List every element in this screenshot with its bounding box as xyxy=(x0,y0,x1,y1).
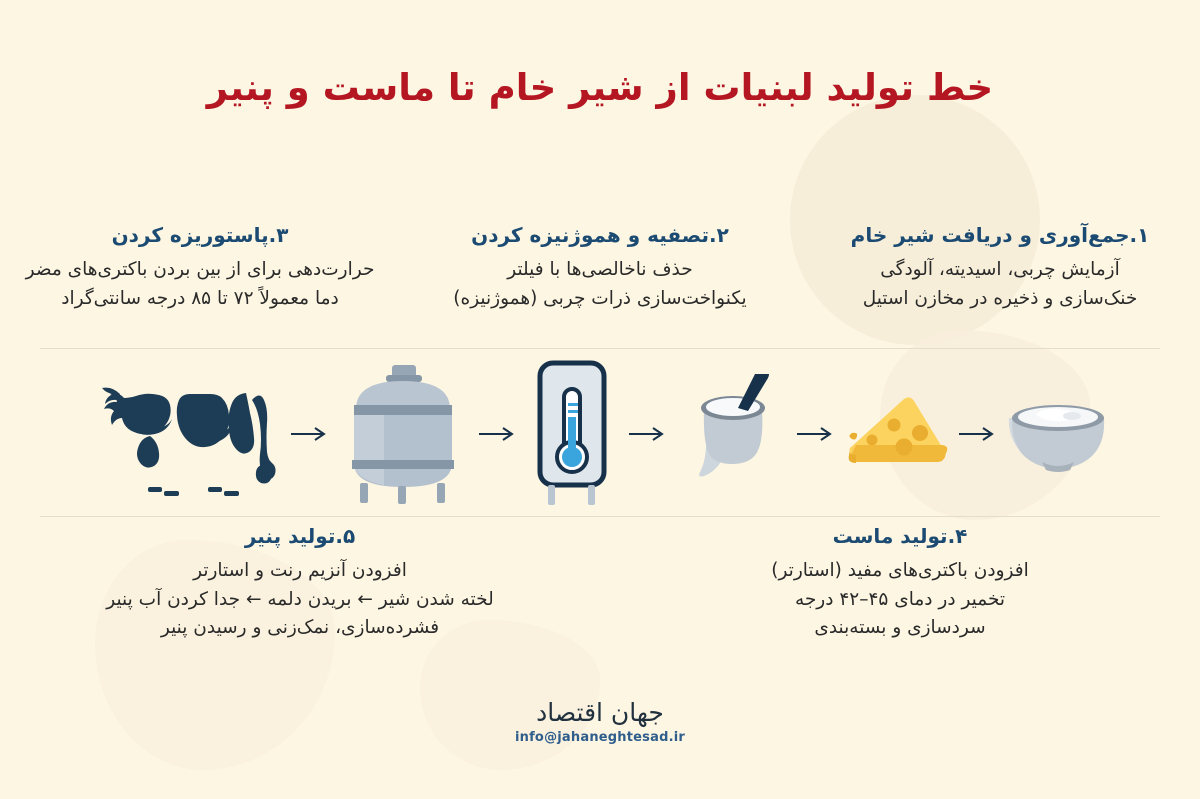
flow-arrow-icon xyxy=(792,414,838,454)
cheese-wedge-icon-cell xyxy=(844,359,948,509)
step-3-line-2: دما معمولاً ۷۲ تا ۸۵ درجه سانتی‌گراد xyxy=(6,285,394,314)
yogurt-cup-icon-cell xyxy=(676,359,786,509)
yogurt-cup-icon xyxy=(676,374,786,494)
divider-top xyxy=(40,348,1160,349)
flow-arrow-icon xyxy=(474,414,520,454)
cow-icon-cell xyxy=(90,359,280,509)
flow-arrow-icon xyxy=(954,414,1000,454)
step-3-heading: ۳.پاستوریزه کردن xyxy=(6,222,394,248)
step-2-line-1: حذف ناخالصی‌ها با فیلتر xyxy=(406,256,794,285)
cheese-wedge-icon xyxy=(844,395,948,473)
step-4-line-1: افزودن باکتری‌های مفید (استارتر) xyxy=(620,557,1180,586)
step-1-line-1: آزمایش چربی، اسیدیته، آلودگی xyxy=(806,256,1194,285)
yogurt-bowl-icon xyxy=(1006,394,1110,474)
flow-arrow-icon xyxy=(286,414,332,454)
step-1-line-2: خنک‌سازی و ذخیره در مخازن استیل xyxy=(806,285,1194,314)
step-4-heading: ۴.تولید ماست xyxy=(620,523,1180,549)
cow-icon xyxy=(90,372,280,497)
pasteurizer-thermometer-icon xyxy=(526,359,618,509)
pasteurizer-thermometer-icon-cell xyxy=(526,359,618,509)
step-5-cheese: ۵.تولید پنیر افزودن آنزیم رنت و استارتر … xyxy=(0,523,600,643)
page-title: خط تولید لبنیات از شیر خام تا ماست و پنی… xyxy=(0,62,1200,113)
infographic-canvas: خط تولید لبنیات از شیر خام تا ماست و پنی… xyxy=(0,0,1200,799)
footer: جهان اقتصاد info@jahaneghtesad.ir xyxy=(0,700,1200,745)
flow-arrow-icon xyxy=(624,414,670,454)
step-5-line-2: لخته شدن شیر ← بریدن دلمه ← جدا کردن آب … xyxy=(20,586,580,615)
jahan-eghtesad-logo: جهان اقتصاد xyxy=(0,700,1200,726)
step-1-heading: ۱.جمع‌آوری و دریافت شیر خام xyxy=(806,222,1194,248)
bottom-steps-row: ۴.تولید ماست افزودن باکتری‌های مفید (است… xyxy=(0,523,1200,643)
top-steps-row: ۱.جمع‌آوری و دریافت شیر خام آزمایش چربی،… xyxy=(0,222,1200,313)
step-3-line-1: حرارت‌دهی برای از بین بردن باکتری‌های مض… xyxy=(6,256,394,285)
storage-tank-icon-cell xyxy=(338,359,468,509)
contact-email[interactable]: info@jahaneghtesad.ir xyxy=(0,730,1200,745)
step-5-heading: ۵.تولید پنیر xyxy=(20,523,580,549)
step-2-line-2: یکنواخت‌سازی ذرات چربی (هموژنیزه) xyxy=(406,285,794,314)
step-5-line-3: فشرده‌سازی، نمک‌زنی و رسیدن پنیر xyxy=(20,614,580,643)
process-flow-strip xyxy=(0,355,1200,513)
step-5-line-1: افزودن آنزیم رنت و استارتر xyxy=(20,557,580,586)
yogurt-bowl-icon-cell xyxy=(1006,359,1110,509)
step-4-line-3: سردسازی و بسته‌بندی xyxy=(620,614,1180,643)
step-4-yogurt: ۴.تولید ماست افزودن باکتری‌های مفید (است… xyxy=(600,523,1200,643)
step-3-pasteurization: ۳.پاستوریزه کردن حرارت‌دهی برای از بین ب… xyxy=(0,222,400,313)
step-1-collection: ۱.جمع‌آوری و دریافت شیر خام آزمایش چربی،… xyxy=(800,222,1200,313)
storage-tank-icon xyxy=(338,363,468,505)
step-2-heading: ۲.تصفیه و هموژنیزه کردن xyxy=(406,222,794,248)
step-4-line-2: تخمیر در دمای ۴۵–۴۲ درجه xyxy=(620,586,1180,615)
step-2-filtration: ۲.تصفیه و هموژنیزه کردن حذف ناخالصی‌ها ب… xyxy=(400,222,800,313)
divider-bottom xyxy=(40,516,1160,517)
